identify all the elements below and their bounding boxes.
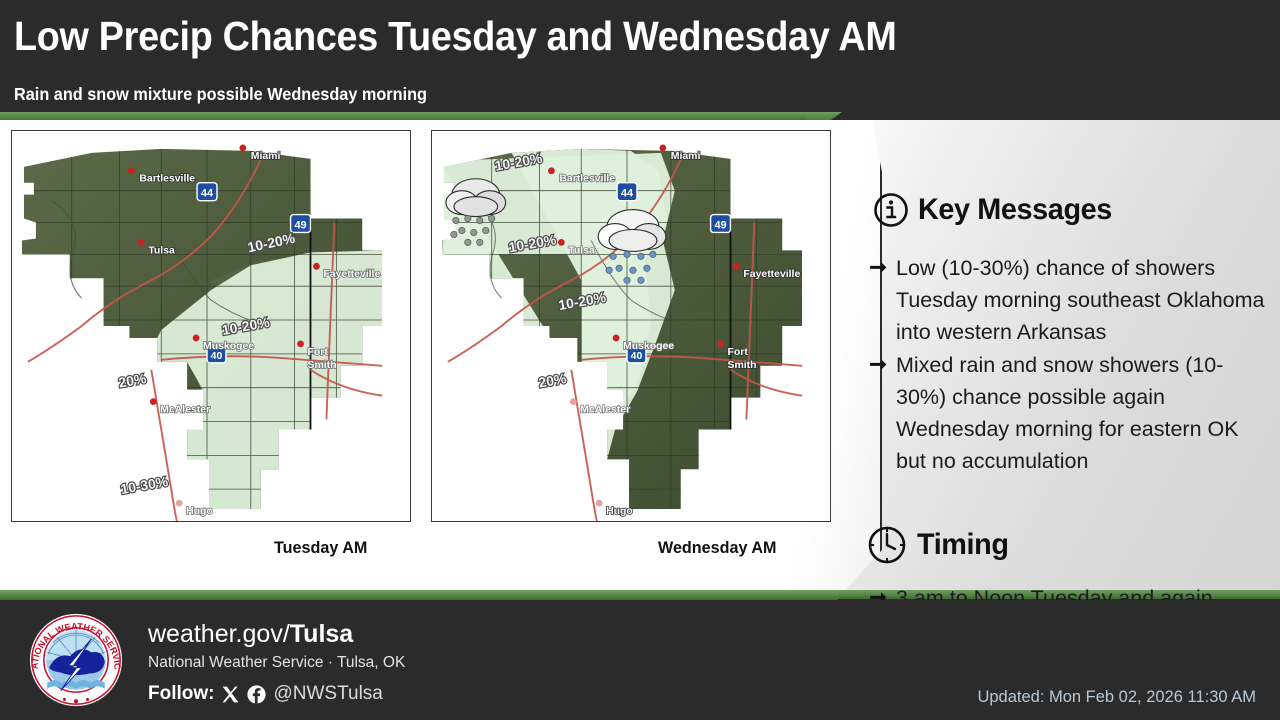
highway-shield-49: 49 bbox=[711, 215, 731, 233]
arrow-right-icon: ➞ bbox=[860, 349, 896, 381]
svg-text:Smith: Smith bbox=[728, 360, 757, 371]
weather-graphic: Low Precip Chances Tuesday and Wednesday… bbox=[0, 0, 1280, 720]
svg-text:Fayetteville: Fayetteville bbox=[743, 269, 800, 280]
key-messages-title: Key Messages bbox=[918, 193, 1112, 227]
svg-text:40: 40 bbox=[631, 351, 643, 362]
office-line: National Weather Service · Tulsa, OK bbox=[148, 654, 405, 672]
svg-text:Fayetteville: Fayetteville bbox=[323, 269, 380, 280]
svg-text:Miami: Miami bbox=[251, 151, 281, 162]
svg-text:Fort: Fort bbox=[728, 347, 749, 358]
updated-timestamp: Updated: Mon Feb 02, 2026 11:30 AM bbox=[977, 688, 1256, 707]
arrow-right-icon: ➞ bbox=[860, 252, 896, 284]
list-item: ➞ Mixed rain and snow showers (10-30%) c… bbox=[860, 349, 1272, 477]
highway-shield-44: 44 bbox=[197, 183, 217, 201]
svg-text:44: 44 bbox=[621, 188, 634, 200]
map-tuesday-graphic: 44 49 40 Bartlesville Miami Tulsa Fayett… bbox=[12, 131, 410, 521]
facebook-icon[interactable] bbox=[247, 685, 266, 704]
svg-text:Miami: Miami bbox=[671, 151, 701, 162]
x-icon[interactable] bbox=[221, 685, 240, 704]
map-wednesday[interactable]: 44 49 40 Bartlesville Miami Tulsa Fayett… bbox=[431, 130, 831, 522]
page-title: Low Precip Chances Tuesday and Wednesday… bbox=[14, 13, 896, 59]
follow-row: Follow: @NWSTulsa bbox=[148, 683, 383, 705]
key-message-text: Mixed rain and snow showers (10-30%) cha… bbox=[896, 349, 1272, 477]
info-circle-icon bbox=[873, 192, 909, 228]
svg-text:Fort: Fort bbox=[308, 347, 329, 358]
svg-text:49: 49 bbox=[714, 220, 726, 232]
key-messages-header: Key Messages bbox=[873, 192, 1120, 228]
timing-title: Timing bbox=[917, 528, 1009, 562]
key-message-text: Low (10-30%) chance of showers Tuesday m… bbox=[896, 252, 1272, 348]
svg-text:40: 40 bbox=[211, 351, 223, 362]
svg-text:44: 44 bbox=[201, 188, 214, 200]
url-office: Tulsa bbox=[290, 620, 353, 648]
social-handle[interactable]: @NWSTulsa bbox=[273, 683, 382, 705]
svg-text:Hugo: Hugo bbox=[606, 506, 633, 517]
footer-green-accent bbox=[0, 590, 838, 600]
svg-text:Bartlesville: Bartlesville bbox=[139, 174, 195, 185]
list-item: ➞ Low (10-30%) chance of showers Tuesday… bbox=[860, 252, 1272, 348]
svg-text:Smith: Smith bbox=[308, 360, 337, 371]
map-caption-tuesday: Tuesday AM bbox=[274, 538, 367, 558]
header-green-accent bbox=[0, 112, 828, 120]
map-tuesday[interactable]: 44 49 40 Bartlesville Miami Tulsa Fayett… bbox=[11, 130, 411, 522]
svg-text:Bartlesville: Bartlesville bbox=[559, 174, 615, 185]
map-caption-wednesday: Wednesday AM bbox=[658, 538, 776, 558]
svg-text:McAlester: McAlester bbox=[160, 405, 210, 416]
svg-text:Muskogee: Muskogee bbox=[623, 341, 674, 352]
highway-shield-44: 44 bbox=[617, 183, 637, 201]
highway-shield-49: 49 bbox=[291, 215, 311, 233]
page-subtitle: Rain and snow mixture possible Wednesday… bbox=[14, 84, 427, 105]
map-wednesday-graphic: 44 49 40 Bartlesville Miami Tulsa Fayett… bbox=[432, 131, 830, 521]
svg-text:McAlester: McAlester bbox=[580, 405, 630, 416]
svg-text:Hugo: Hugo bbox=[186, 506, 213, 517]
key-messages-list: ➞ Low (10-30%) chance of showers Tuesday… bbox=[860, 252, 1272, 478]
url-prefix: weather.gov/ bbox=[148, 620, 290, 648]
clock-icon bbox=[866, 524, 908, 566]
timing-header: Timing bbox=[866, 524, 1012, 566]
svg-text:Tulsa: Tulsa bbox=[568, 245, 595, 256]
nws-logo: NATIONAL WEATHER SERVICE bbox=[28, 612, 124, 708]
svg-text:Muskogee: Muskogee bbox=[203, 341, 254, 352]
follow-label: Follow: bbox=[148, 683, 214, 705]
weather-gov-url[interactable]: weather.gov/Tulsa bbox=[148, 620, 353, 649]
svg-text:Tulsa: Tulsa bbox=[148, 245, 175, 256]
header-bar: Low Precip Chances Tuesday and Wednesday… bbox=[0, 0, 1280, 112]
svg-text:49: 49 bbox=[294, 220, 306, 232]
